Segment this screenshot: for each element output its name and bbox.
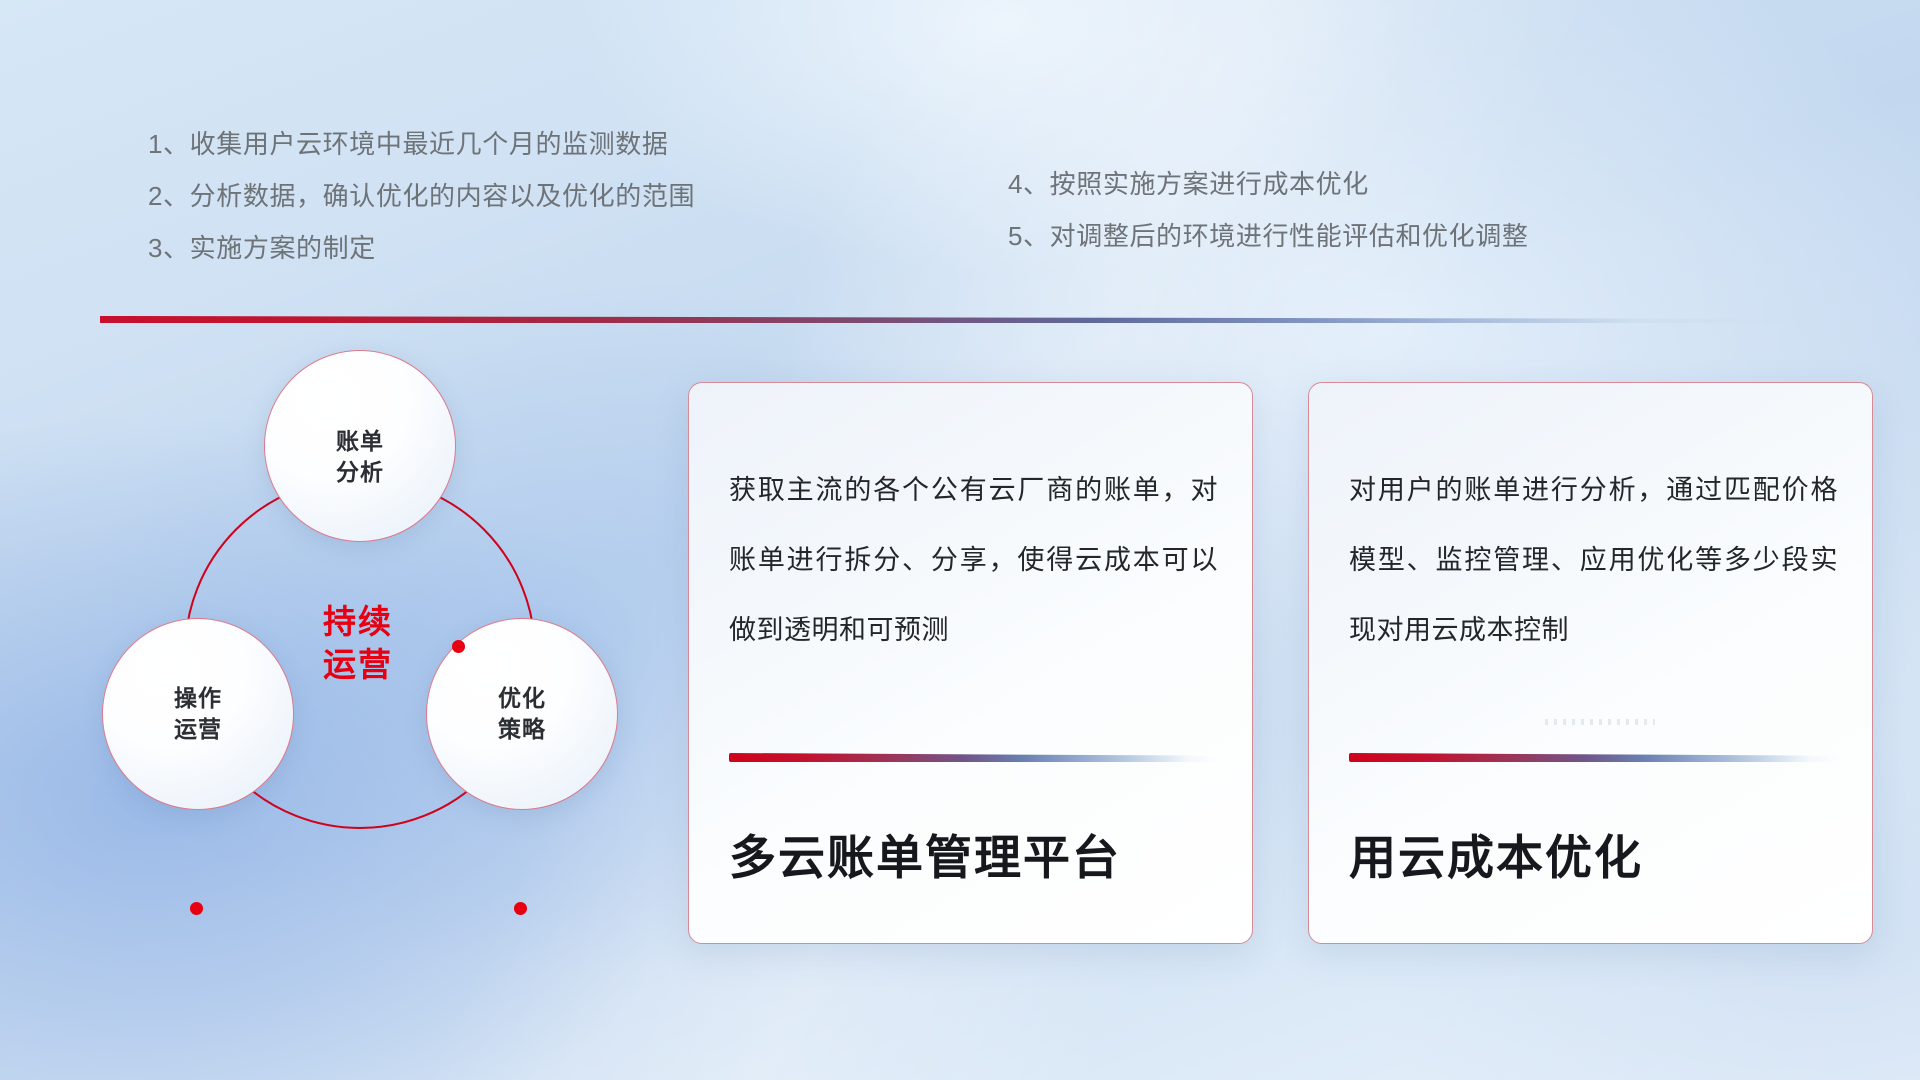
venn-node-label-line1: 优化 — [427, 683, 617, 714]
venn-center-label: 持续 运营 — [184, 600, 532, 686]
venn-center-label-line2: 运营 — [184, 643, 532, 686]
venn-connector-dot-left — [190, 902, 203, 915]
venn-node-label: 操作 运营 — [103, 683, 293, 745]
venn-node-label: 优化 策略 — [427, 683, 617, 745]
bullet-item-1: 1、收集用户云环境中最近几个月的监测数据 — [148, 118, 695, 170]
card-texture-dots — [1545, 719, 1655, 725]
feature-card-cost-optimization[interactable]: 对用户的账单进行分析，通过匹配价格模型、监控管理、应用优化等多少段实现对用云成本… — [1308, 382, 1873, 944]
feature-card-title: 多云账单管理平台 — [729, 819, 1222, 888]
feature-card-description: 对用户的账单进行分析，通过匹配价格模型、监控管理、应用优化等多少段实现对用云成本… — [1349, 455, 1838, 665]
feature-card-divider — [1349, 753, 1838, 762]
venn-node-label-line2: 分析 — [265, 457, 455, 488]
venn-connector-dot-top — [452, 640, 465, 653]
venn-center-label-line1: 持续 — [184, 600, 532, 643]
venn-node-label-line1: 操作 — [103, 683, 293, 714]
feature-card-multicloud-billing[interactable]: 获取主流的各个公有云厂商的账单，对账单进行拆分、分享，使得云成本可以做到透明和可… — [688, 382, 1253, 944]
feature-card-description: 获取主流的各个公有云厂商的账单，对账单进行拆分、分享，使得云成本可以做到透明和可… — [729, 455, 1218, 665]
venn-node-bill-analysis[interactable]: 账单 分析 — [264, 350, 456, 542]
bullet-item-3: 3、实施方案的制定 — [148, 222, 695, 274]
venn-node-label-line2: 运营 — [103, 714, 293, 745]
feature-card-divider — [729, 753, 1218, 762]
slide-canvas: 1、收集用户云环境中最近几个月的监测数据 2、分析数据，确认优化的内容以及优化的… — [0, 0, 1920, 1080]
bullet-item-2: 2、分析数据，确认优化的内容以及优化的范围 — [148, 170, 695, 222]
feature-card-title: 用云成本优化 — [1349, 819, 1842, 888]
bullet-item-5: 5、对调整后的环境进行性能评估和优化调整 — [1008, 210, 1528, 262]
venn-node-label: 账单 分析 — [265, 426, 455, 488]
bullet-list-right: 4、按照实施方案进行成本优化 5、对调整后的环境进行性能评估和优化调整 — [1008, 158, 1528, 262]
venn-diagram: 账单 分析 操作 运营 优化 策略 持续 运营 — [96, 350, 656, 950]
bullet-list-left: 1、收集用户云环境中最近几个月的监测数据 2、分析数据，确认优化的内容以及优化的… — [148, 118, 695, 274]
venn-connector-dot-right — [514, 902, 527, 915]
section-divider — [100, 316, 1820, 323]
venn-node-label-line2: 策略 — [427, 714, 617, 745]
bullet-item-4: 4、按照实施方案进行成本优化 — [1008, 158, 1528, 210]
venn-node-label-line1: 账单 — [265, 426, 455, 457]
